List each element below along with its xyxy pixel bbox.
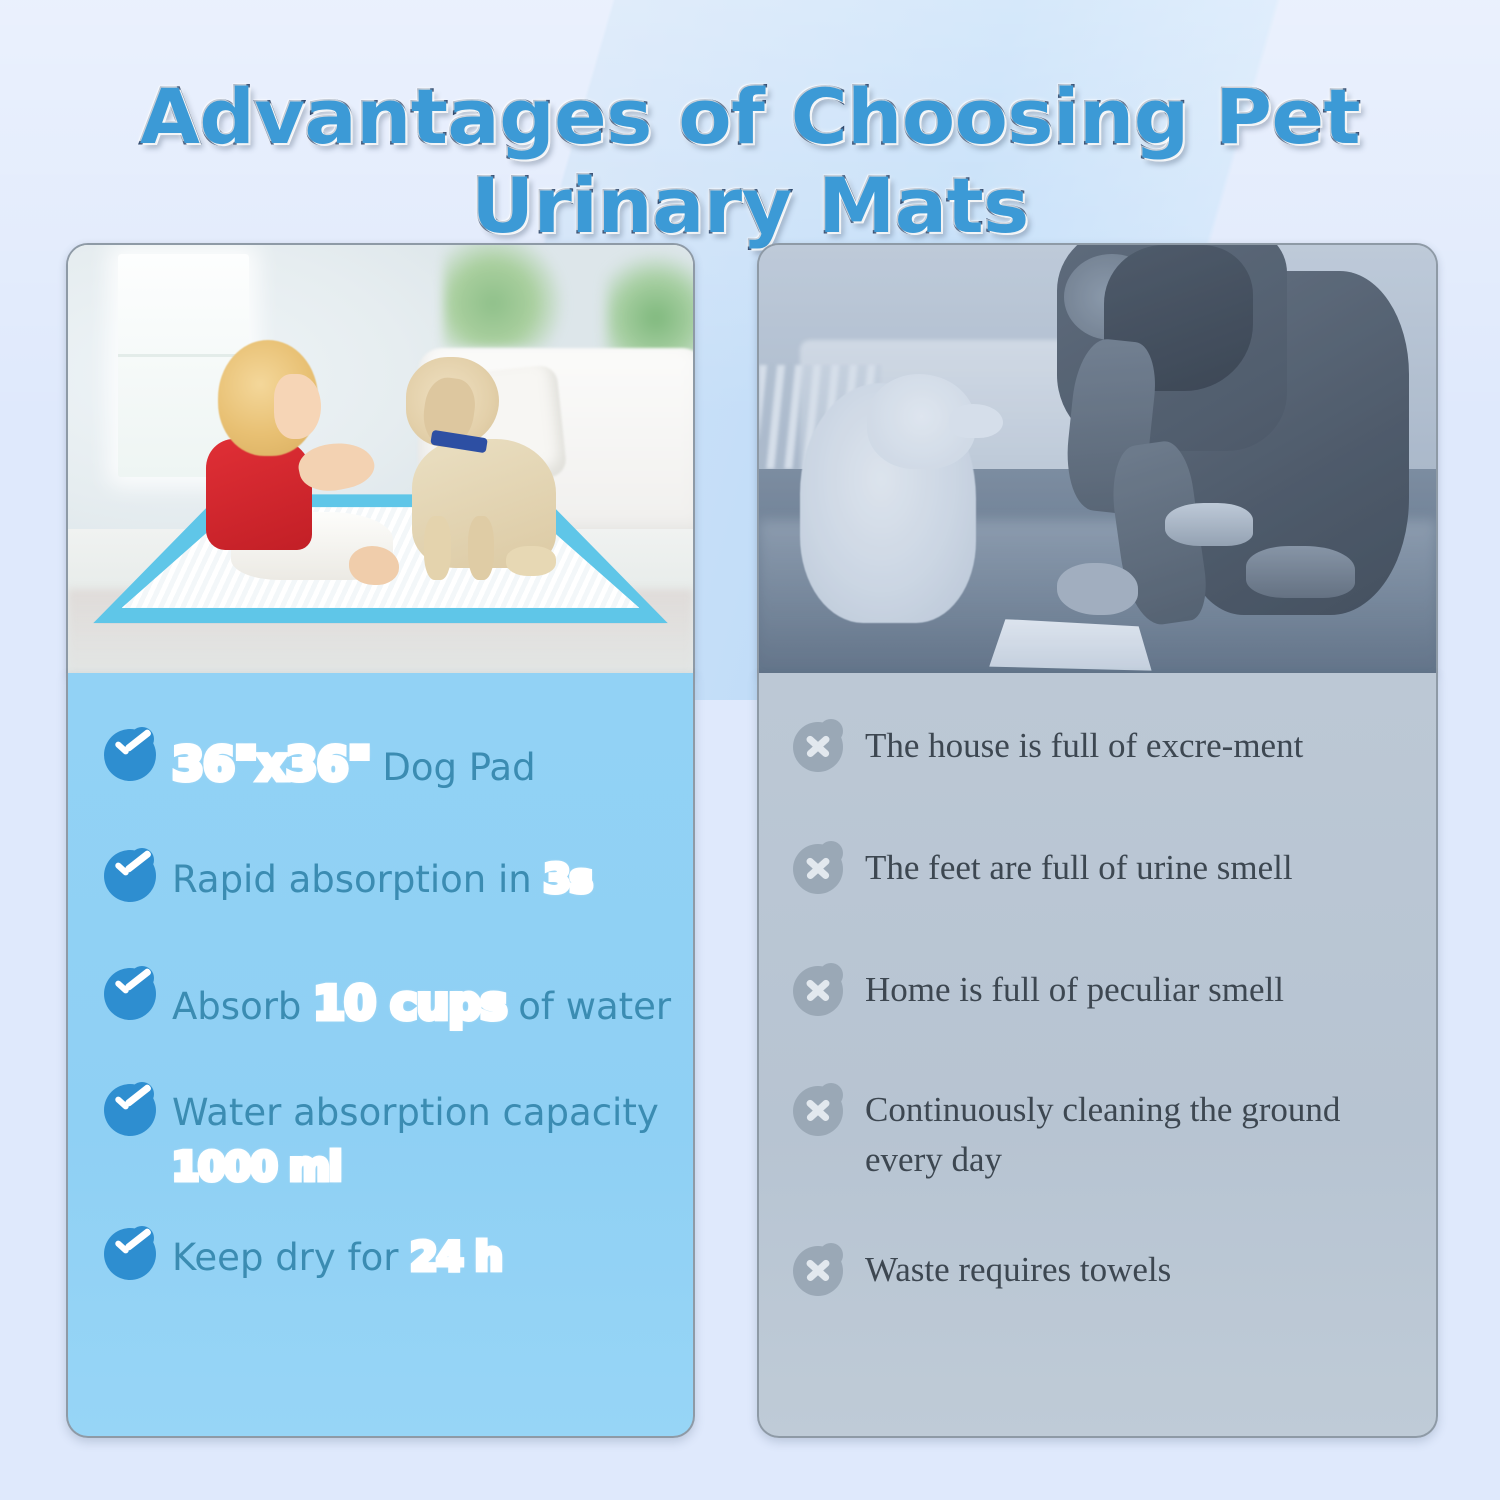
pros-list-item-label: 36"x36" Dog Pad — [172, 727, 536, 798]
cons-list-item: The feet are full of urine smell — [791, 841, 1431, 895]
pros-list-item: Keep dry for 24 h — [102, 1226, 682, 1287]
cons-list-item-label: Home is full of peculiar smell — [865, 963, 1284, 1015]
pros-highlight-value: 1000 ml — [172, 1145, 341, 1190]
check-circle-icon — [102, 727, 158, 783]
pros-list-item-label: Rapid absorption in 3s — [172, 848, 592, 909]
cons-panel: The house is full of excre-mentThe feet … — [757, 673, 1438, 1438]
x-circle-icon — [791, 1083, 845, 1137]
pros-plain-text: Absorb — [172, 985, 313, 1028]
x-circle-icon — [791, 841, 845, 895]
pros-list-item: Absorb 10 cups of water — [102, 966, 682, 1037]
page-title-container: Advantages of Choosing Pet Urinary Mats — [0, 72, 1500, 250]
pros-highlight-value: 24 h — [410, 1235, 502, 1280]
photo-woman-cleaning-floor — [757, 243, 1438, 675]
blue-tint-overlay — [759, 245, 1436, 675]
cons-list-item: The house is full of excre-ment — [791, 719, 1431, 773]
page-title: Advantages of Choosing Pet Urinary Mats — [0, 72, 1500, 250]
check-circle-icon — [102, 966, 158, 1022]
pros-plain-text: Dog Pad — [371, 746, 536, 789]
pros-panel: 36"x36" Dog PadRapid absorption in 3sAbs… — [66, 673, 695, 1438]
pros-list-item-label: Absorb 10 cups of water — [172, 966, 671, 1037]
x-circle-icon — [791, 1243, 845, 1297]
cons-list-item: Waste requires towels — [791, 1243, 1431, 1297]
cons-list-item: Continuously cleaning the ground every d… — [791, 1083, 1431, 1184]
pros-list-item: Water absorption capacity 1000 ml — [102, 1082, 682, 1196]
plant-decor — [443, 243, 568, 348]
pros-plain-text: Keep dry for — [172, 1236, 410, 1279]
pros-highlight-value: 36"x36" — [172, 737, 371, 791]
dog-paw — [506, 546, 556, 576]
cons-list-item-label: Waste requires towels — [865, 1243, 1171, 1295]
infographic-page: Advantages of Choosing Pet Urinary Mats — [0, 0, 1500, 1500]
pros-list-item: Rapid absorption in 3s — [102, 848, 682, 909]
pros-highlight-value: 10 cups — [313, 976, 506, 1030]
check-circle-icon — [102, 1082, 158, 1138]
pros-plain-text: of water — [507, 985, 672, 1028]
pros-list-item: 36"x36" Dog Pad — [102, 727, 682, 798]
x-circle-icon — [791, 963, 845, 1017]
photo-child-with-dog — [66, 243, 695, 675]
pros-list-item-label: Keep dry for 24 h — [172, 1226, 502, 1287]
child-face — [274, 374, 321, 439]
x-circle-icon — [791, 719, 845, 773]
pros-plain-text: Rapid absorption in — [172, 858, 543, 901]
check-circle-icon — [102, 848, 158, 904]
pros-highlight-value: 3s — [543, 857, 591, 902]
check-circle-icon — [102, 1226, 158, 1282]
pros-list-item-label: Water absorption capacity 1000 ml — [172, 1082, 682, 1196]
cons-list-item: Home is full of peculiar smell — [791, 963, 1431, 1017]
child-foot — [349, 546, 399, 585]
dog-front-leg — [424, 516, 450, 581]
cons-list-item-label: The feet are full of urine smell — [865, 841, 1293, 893]
dog-back-leg — [468, 516, 494, 581]
cons-list-item-label: Continuously cleaning the ground every d… — [865, 1083, 1345, 1184]
pros-plain-text: Water absorption capacity — [172, 1091, 659, 1134]
cons-list-item-label: The house is full of excre-ment — [865, 719, 1303, 771]
